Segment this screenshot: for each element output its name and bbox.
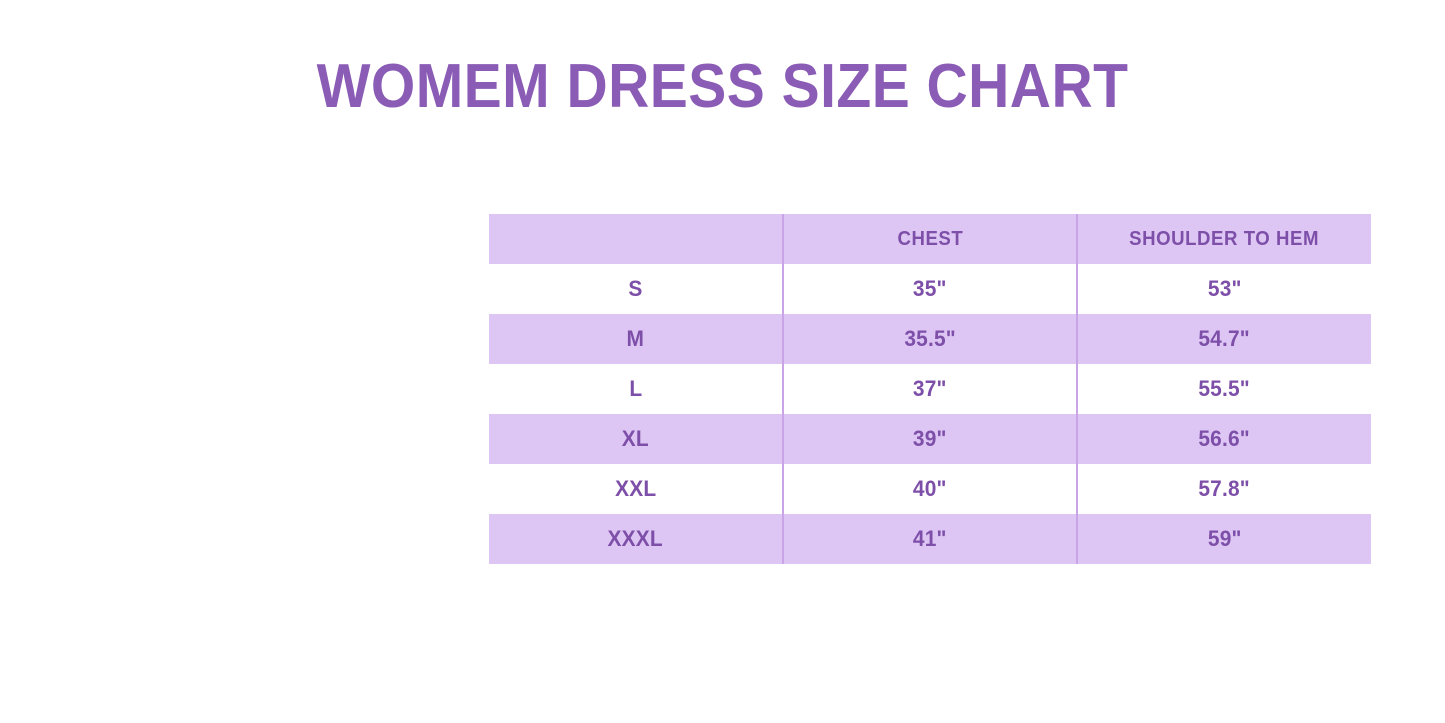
column-header-chest: CHEST [783, 214, 1077, 264]
cell-chest: 35" [783, 264, 1077, 314]
table-body: S 35" 53" M 35.5" [489, 264, 1371, 564]
cell-shoulder-to-hem: 57.8" [1077, 464, 1371, 514]
cell-size-label: XL [622, 426, 649, 452]
cell-shoulder-to-hem-value: 59" [1208, 526, 1242, 552]
cell-chest-value: 41" [913, 526, 947, 552]
size-chart-table: CHEST SHOULDER TO HEM S 35" 53 [489, 214, 1371, 564]
cell-shoulder-to-hem-value: 57.8" [1199, 476, 1251, 502]
cell-shoulder-to-hem: 56.6" [1077, 414, 1371, 464]
cell-shoulder-to-hem: 55.5" [1077, 364, 1371, 414]
size-chart-page: WOMEM DRESS SIZE CHART CHEST SHOULDER TO [0, 0, 1445, 723]
cell-chest-value: 39" [913, 426, 947, 452]
cell-size: XXXL [489, 514, 783, 564]
page-title: WOMEM DRESS SIZE CHART [58, 54, 1387, 119]
cell-size: M [489, 314, 783, 364]
cell-chest: 41" [783, 514, 1077, 564]
cell-shoulder-to-hem: 53" [1077, 264, 1371, 314]
table-row: L 37" 55.5" [489, 364, 1371, 414]
table-row: XL 39" 56.6" [489, 414, 1371, 464]
cell-shoulder-to-hem-value: 56.6" [1199, 426, 1251, 452]
column-header-size [489, 214, 783, 264]
cell-shoulder-to-hem-value: 53" [1208, 276, 1242, 302]
cell-shoulder-to-hem: 59" [1077, 514, 1371, 564]
size-chart-table-container: CHEST SHOULDER TO HEM S 35" 53 [489, 214, 1371, 566]
cell-shoulder-to-hem-value: 54.7" [1199, 326, 1251, 352]
table-row: XXXL 41" 59" [489, 514, 1371, 564]
column-header-shoulder-to-hem-label: SHOULDER TO HEM [1130, 228, 1320, 251]
cell-size-label: L [629, 376, 642, 402]
cell-size-label: XXXL [608, 526, 663, 552]
column-header-chest-label: CHEST [897, 228, 963, 251]
cell-chest: 37" [783, 364, 1077, 414]
cell-chest-value: 35" [913, 276, 947, 302]
table-header-row: CHEST SHOULDER TO HEM [489, 214, 1371, 264]
cell-size-label: S [628, 276, 642, 302]
cell-size: S [489, 264, 783, 314]
cell-chest-value: 37" [913, 376, 947, 402]
table-row: S 35" 53" [489, 264, 1371, 314]
cell-size-label: M [627, 326, 645, 352]
cell-shoulder-to-hem-value: 55.5" [1199, 376, 1251, 402]
table-row: XXL 40" 57.8" [489, 464, 1371, 514]
cell-size: XL [489, 414, 783, 464]
cell-size-label: XXL [615, 476, 656, 502]
cell-size: XXL [489, 464, 783, 514]
cell-chest: 35.5" [783, 314, 1077, 364]
column-header-shoulder-to-hem: SHOULDER TO HEM [1077, 214, 1371, 264]
cell-chest-value: 35.5" [904, 326, 956, 352]
table-row: M 35.5" 54.7" [489, 314, 1371, 364]
cell-size: L [489, 364, 783, 414]
cell-shoulder-to-hem: 54.7" [1077, 314, 1371, 364]
cell-chest: 39" [783, 414, 1077, 464]
cell-chest-value: 40" [913, 476, 947, 502]
table-header: CHEST SHOULDER TO HEM [489, 214, 1371, 264]
cell-chest: 40" [783, 464, 1077, 514]
